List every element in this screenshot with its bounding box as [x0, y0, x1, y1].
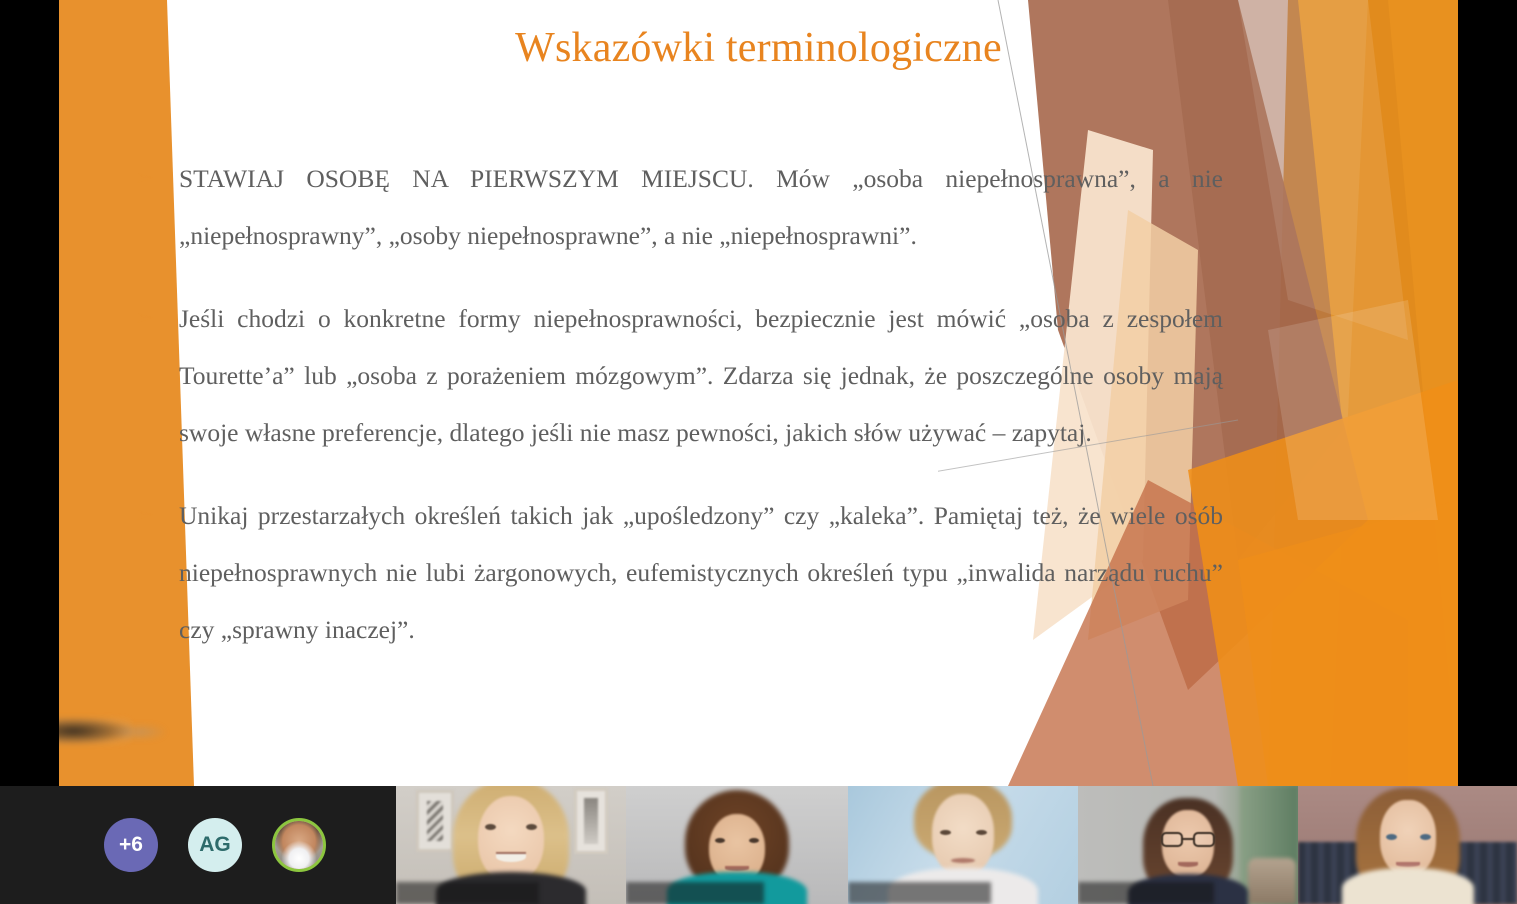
video-tile-3-mouth: [951, 858, 975, 863]
video-tile-1-mouth: [496, 852, 526, 862]
avatar-photo-image: [275, 821, 323, 869]
video-tile-5-person-torso: [1342, 868, 1474, 904]
participant-initials-label: AG: [199, 833, 231, 857]
participant-strip: +6 AG: [0, 786, 1517, 904]
video-tile-1-person-face: [478, 796, 544, 882]
participant-overflow-label: +6: [119, 833, 143, 857]
arrow-bullet-icon: ➢: [135, 487, 154, 544]
slide-bullet-2: ➢ Jeśli chodzi o konkretne formy niepełn…: [133, 290, 1223, 461]
arrow-bullet-icon: ➢: [135, 290, 154, 347]
video-tile-5[interactable]: [1298, 786, 1517, 904]
video-tile-1-name-overlay: [396, 882, 539, 904]
presentation-slide[interactable]: Wskazówki terminologiczne ➢ STAWIAJ OSOB…: [59, 0, 1458, 786]
video-tile-5-eye-left: [1386, 834, 1397, 840]
participant-overflow-avatar[interactable]: +6: [104, 818, 158, 872]
picture-frame-icon: [416, 790, 454, 852]
slide-bullet-1: ➢ STAWIAJ OSOBĘ NA PIERWSZYM MIEJSCU. Mó…: [133, 150, 1223, 264]
video-tile-4-mouth: [1178, 862, 1198, 867]
slide-body: ➢ STAWIAJ OSOBĘ NA PIERWSZYM MIEJSCU. Mó…: [133, 150, 1223, 658]
video-tile-3-eye-right: [976, 830, 987, 835]
video-tile-3[interactable]: [848, 786, 1078, 904]
picture-frame-icon: [574, 788, 608, 854]
video-tile-1[interactable]: [396, 786, 626, 904]
video-tile-2-eye-left: [715, 838, 725, 843]
participant-photo-avatar[interactable]: [272, 818, 326, 872]
slide-bullet-3-text: Unikaj przestarzałych określeń takich ja…: [179, 487, 1223, 658]
video-tile-4[interactable]: [1078, 786, 1298, 904]
participant-avatar-group: +6 AG: [0, 786, 396, 904]
slide-bullet-1-text: STAWIAJ OSOBĘ NA PIERWSZYM MIEJSCU. Mów …: [179, 150, 1223, 264]
video-tile-3-eye-left: [940, 830, 951, 835]
screen-root: Wskazówki terminologiczne ➢ STAWIAJ OSOB…: [0, 0, 1517, 904]
participant-initials-avatar[interactable]: AG: [188, 818, 242, 872]
video-tile-5-mouth: [1396, 862, 1420, 867]
slide-bullet-3: ➢ Unikaj przestarzałych określeń takich …: [133, 487, 1223, 658]
slide-title: Wskazówki terminologiczne: [59, 24, 1458, 72]
armchair-icon: [1248, 858, 1296, 904]
video-tile-1-eye-right: [526, 824, 537, 830]
video-tile-3-name-overlay: [848, 882, 991, 904]
video-tile-2-mouth: [725, 866, 749, 871]
video-tile-4-name-overlay: [1078, 882, 1214, 904]
video-tile-1-eye-left: [485, 824, 496, 830]
eyeglasses-icon: [1161, 832, 1215, 847]
video-tile-2[interactable]: [626, 786, 848, 904]
video-tile-row: [396, 786, 1517, 904]
video-tile-3-person-face: [932, 794, 994, 876]
video-tile-5-eye-right: [1420, 834, 1431, 840]
slide-bullet-2-text: Jeśli chodzi o konkretne formy niepełnos…: [179, 290, 1223, 461]
shared-screen-stage[interactable]: Wskazówki terminologiczne ➢ STAWIAJ OSOB…: [0, 0, 1517, 786]
video-tile-2-name-overlay: [626, 882, 764, 904]
arrow-bullet-icon: ➢: [135, 150, 154, 207]
presentation-control-overlay-secondary[interactable]: [113, 724, 165, 740]
video-tile-2-eye-right: [749, 838, 759, 843]
